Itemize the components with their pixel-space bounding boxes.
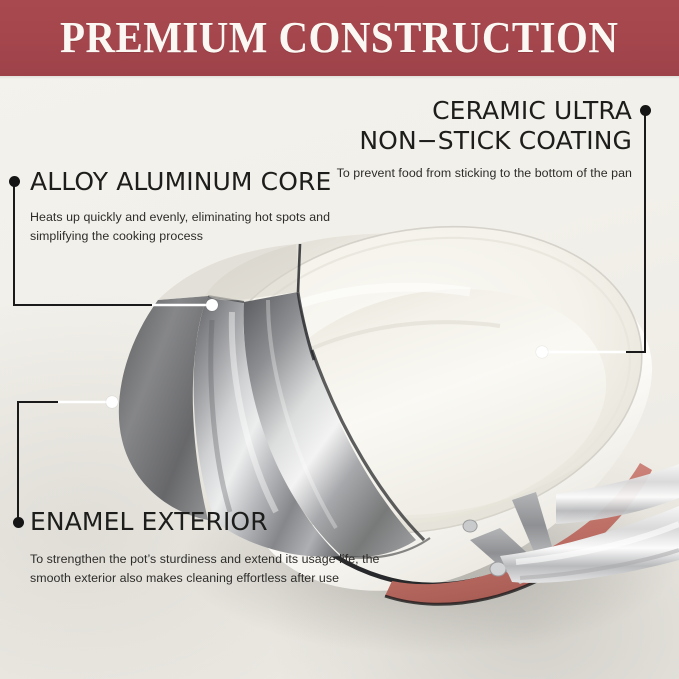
callout-alloy-title: ALLOY ALUMINUM CORE (30, 167, 350, 197)
callout-ceramic-title-line-2: NON−STICK COATING (300, 126, 632, 156)
callout-alloy-core: ALLOY ALUMINUM CORE Heats up quickly and… (30, 167, 350, 246)
cutaway-rim-cut (158, 244, 300, 300)
handle-bracket-rivet-bottom (490, 562, 506, 576)
banner-underline (0, 76, 679, 79)
leader-dot-enamel (13, 517, 24, 528)
leader-target-dot-ceramic (536, 346, 548, 358)
callout-alloy-subtitle-line-2: simplifying the cooking process (30, 227, 350, 246)
leader-target-dot-alloy (206, 299, 218, 311)
callout-alloy-subtitle-line-1: Heats up quickly and evenly, eliminating… (30, 208, 350, 227)
callout-enamel-subtitle-line-1: To strengthen the pot’s sturdiness and e… (30, 550, 380, 569)
leader-dot-ceramic (640, 105, 651, 116)
infographic-canvas: PREMIUM CONSTRUCTION CERAMIC ULTRA NON−S… (0, 0, 679, 679)
callout-enamel-subtitle-line-2: smooth exterior also makes cleaning effo… (30, 569, 380, 588)
header-banner: PREMIUM CONSTRUCTION (0, 0, 679, 76)
callout-enamel-exterior: ENAMEL EXTERIOR To strengthen the pot’s … (30, 507, 380, 588)
handle-bracket-rivet-top (463, 520, 477, 532)
page-title: PREMIUM CONSTRUCTION (60, 16, 618, 60)
callout-ceramic-title-line-1: CERAMIC ULTRA (300, 96, 632, 126)
callout-enamel-title: ENAMEL EXTERIOR (30, 507, 380, 537)
leader-target-dot-enamel (106, 396, 118, 408)
leader-dot-alloy (9, 176, 20, 187)
